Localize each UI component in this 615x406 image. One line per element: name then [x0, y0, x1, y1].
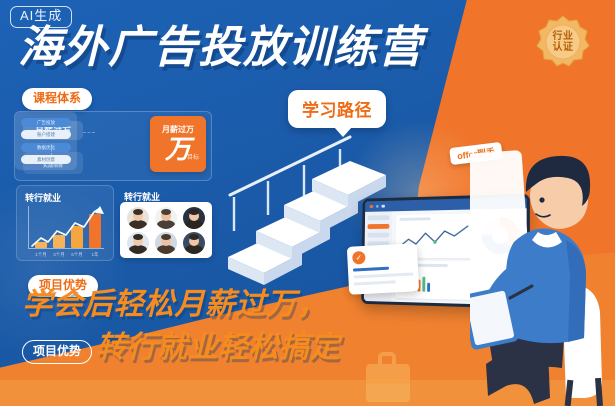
avatar-hair: [161, 234, 171, 240]
dashboard-mini-bar: [422, 276, 425, 291]
curriculum-node-sub-line2: 实战项目: [43, 163, 63, 171]
eye: [539, 197, 544, 202]
avatar: [183, 232, 205, 254]
avatar: [183, 207, 205, 229]
chart-title: 转行就业: [25, 191, 61, 204]
salary-highlight-box: 月薪过万 万 目标: [150, 116, 206, 172]
cert-line-1: 行业: [553, 31, 574, 43]
floating-stat-card: ✓: [347, 243, 419, 295]
headline-line-2: 转行就业轻松搞定: [96, 333, 340, 363]
label-project-advantage-outline: 项目优势: [22, 340, 92, 364]
chart-bar-label: 1年: [89, 252, 101, 258]
person-illustration: [470, 148, 615, 406]
employment-chart: 转行就业 1个月3个月6个月1年: [16, 185, 114, 261]
avatar-body: [129, 245, 147, 254]
dashboard-sidebar-row[interactable]: [368, 224, 390, 229]
page-title: 海外广告投放训练营: [18, 26, 423, 70]
avatar-hair: [133, 209, 143, 215]
curriculum-mid-item: 数据优化: [21, 143, 71, 152]
label-course-system: 课程体系: [22, 88, 92, 110]
card-bar: [354, 280, 396, 285]
curriculum-mid-panel: 广告投放 账户搭建 数据优化 素材创意: [15, 112, 77, 170]
curriculum-mid-item: 账户搭建: [21, 130, 71, 139]
avatar-body: [185, 220, 203, 229]
avatar-body: [157, 245, 175, 254]
salary-highlight-sub: 目标: [187, 152, 199, 161]
chart-bar-label: 6个月: [71, 252, 83, 258]
headline-line-1: 学会后轻松月薪过万，: [22, 290, 327, 320]
dashboard-sidebar-row[interactable]: [367, 233, 389, 238]
avatar: [127, 207, 149, 229]
learning-path-bubble: 学习路径: [288, 90, 386, 128]
card-label: [400, 217, 431, 220]
dashboard-sidebar-row[interactable]: [368, 215, 390, 220]
check-icon: ✓: [352, 251, 366, 265]
chart-bar-label: 1个月: [35, 252, 47, 258]
connector-horizontal-1: [83, 132, 95, 133]
avatar-hair: [161, 209, 171, 215]
avatar: [155, 232, 177, 254]
window-dot-red: [370, 205, 373, 208]
dashboard-mini-bar: [427, 282, 430, 291]
card-bar: [353, 272, 413, 278]
avatar: [155, 207, 177, 229]
avatar-body: [129, 220, 147, 229]
learning-path-label: 学习路径: [302, 101, 372, 120]
promotional-poster: AI生成 行业 认证 海外广告投放训练营 课程体系 月薪过万 系统课程 实战项目…: [0, 0, 615, 406]
salary-highlight-top: 月薪过万: [162, 126, 194, 134]
avatar-body: [185, 245, 203, 254]
cert-line-2: 认证: [553, 42, 574, 54]
certification-badge: 行业 认证: [535, 14, 591, 70]
avatar-hair: [189, 209, 199, 215]
chart-bar-label: 3个月: [53, 252, 65, 258]
students-avatar-card: [120, 202, 212, 258]
suitcase-illustration: [352, 348, 422, 404]
chart-trendline-icon: [28, 204, 106, 250]
card-bar-highlight: [353, 267, 389, 272]
window-dot-blue: [375, 205, 378, 208]
avatar-hair: [189, 234, 199, 240]
connector-vertical: [51, 144, 53, 156]
certification-badge-text: 行业 认证: [535, 14, 591, 70]
curriculum-mid-item: 广告投放: [21, 118, 71, 127]
window-dot-grey: [381, 204, 384, 207]
avatar-body: [157, 220, 175, 229]
avatar: [127, 232, 149, 254]
curriculum-mid-item: 素材创意: [21, 155, 71, 164]
head: [526, 156, 590, 229]
avatar-hair: [133, 234, 143, 240]
